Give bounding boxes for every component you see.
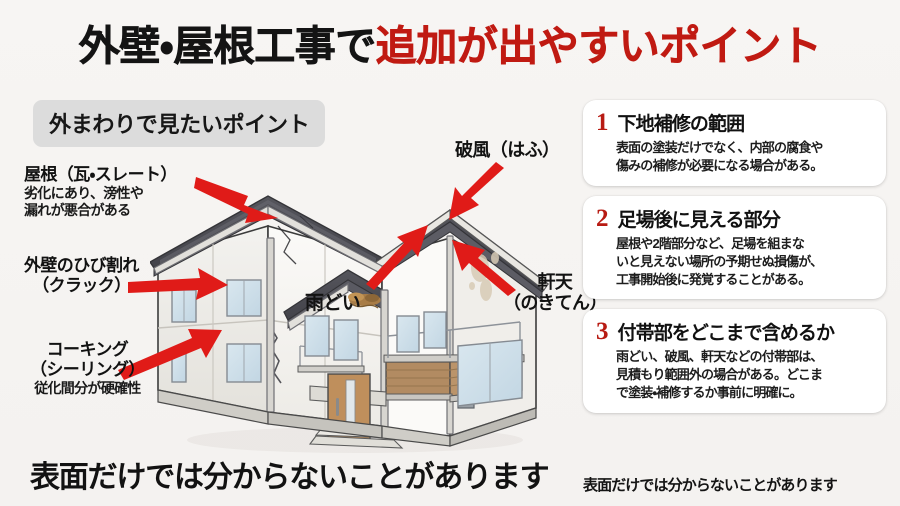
callout-roof-sub-2: 漏れが悪合がある bbox=[24, 202, 177, 219]
callout-crack: 外壁のひび割れ （クラック） bbox=[24, 256, 139, 296]
callout-hafu-head: 破風（はふ） bbox=[455, 140, 559, 161]
point-card-2-title: 足場後に見える部分 bbox=[618, 211, 780, 232]
point-card-1-header: 1 下地補修の範囲 bbox=[596, 110, 873, 136]
callout-gutter-head: 雨どい bbox=[305, 293, 360, 315]
point-card-3-body-line-2: 見積もり範囲外の場合がある。どこま bbox=[616, 366, 873, 384]
callout-caulking-sub-1: 従化間分が硬確性 bbox=[30, 380, 145, 397]
point-card-3: 3 付帯部をどこまで含めるか 雨どい、破風、軒天などの付帯部は、 見積もり範囲外… bbox=[583, 309, 886, 413]
footer-side-text: 表面だけでは分からないことがあります bbox=[583, 474, 837, 495]
callout-roof: 屋根（瓦・スレート） 劣化にあり、滂性や 漏れが悪合がある bbox=[24, 165, 177, 219]
point-card-2-header: 2 足場後に見える部分 bbox=[596, 206, 873, 232]
title-red-segment: 追加が出やすいポイント bbox=[376, 23, 822, 69]
title-black-segment: 外壁・屋根工事で bbox=[79, 23, 376, 69]
callout-gutter: 雨どい bbox=[305, 293, 360, 315]
infographic-root: 外壁・屋根工事で追加が出やすいポイント 外まわりで見たいポイント bbox=[0, 0, 900, 506]
page-title: 外壁・屋根工事で追加が出やすいポイント bbox=[0, 26, 900, 67]
points-card-list: 1 下地補修の範囲 表面の塗装だけでなく、内部の腐食や 傷みの補修が必要になる場… bbox=[583, 100, 886, 423]
callout-caulking-head-2: （シーリング） bbox=[30, 360, 145, 380]
callout-hafu: 破風（はふ） bbox=[455, 140, 559, 161]
point-card-3-body: 雨どい、破風、軒天などの付帯部は、 見積もり範囲外の場合がある。どこま で塗装・… bbox=[596, 348, 873, 402]
point-card-1-number: 1 bbox=[596, 110, 609, 135]
callout-caulking: コーキング （シーリング） 従化間分が硬確性 bbox=[30, 340, 145, 397]
point-card-1: 1 下地補修の範囲 表面の塗装だけでなく、内部の腐食や 傷みの補修が必要になる場… bbox=[583, 100, 886, 186]
point-card-3-body-line-1: 雨どい、破風、軒天などの付帯部は、 bbox=[616, 348, 873, 366]
point-card-1-title: 下地補修の範囲 bbox=[618, 115, 745, 136]
point-card-2: 2 足場後に見える部分 屋根や2階部分など、足場を組まな いと見えない場所の予期… bbox=[583, 196, 886, 300]
point-card-2-number: 2 bbox=[596, 206, 609, 231]
callout-caulking-head-1: コーキング bbox=[30, 340, 145, 360]
point-card-2-body-line-1: 屋根や2階部分など、足場を組まな bbox=[616, 235, 873, 253]
point-card-2-body-line-2: いと見えない場所の予期せぬ損傷が、 bbox=[616, 253, 873, 271]
callout-crack-head-2: （クラック） bbox=[24, 276, 139, 296]
callout-roof-sub-1: 劣化にあり、滂性や bbox=[24, 185, 177, 202]
point-card-3-number: 3 bbox=[596, 319, 609, 344]
point-card-1-body-line-2: 傷みの補修が必要になる場合がある。 bbox=[616, 157, 873, 175]
callout-roof-head: 屋根（瓦・スレート） bbox=[24, 165, 177, 185]
footer-main-text: 表面だけでは分からないことがあります bbox=[30, 452, 548, 496]
point-card-1-body: 表面の塗装だけでなく、内部の腐食や 傷みの補修が必要になる場合がある。 bbox=[596, 139, 873, 175]
point-card-2-body-line-3: 工事開始後に発覚することがある。 bbox=[616, 271, 873, 289]
point-card-2-body: 屋根や2階部分など、足場を組まな いと見えない場所の予期せぬ損傷が、 工事開始後… bbox=[596, 235, 873, 289]
section-badge-label: 外まわりで見たいポイント bbox=[49, 112, 309, 137]
point-card-3-body-line-3: で塗装・補修するか事前に明確に。 bbox=[616, 384, 873, 402]
point-card-1-body-line-1: 表面の塗装だけでなく、内部の腐食や bbox=[616, 139, 873, 157]
callout-crack-head-1: 外壁のひび割れ bbox=[24, 256, 139, 276]
point-card-3-header: 3 付帯部をどこまで含めるか bbox=[596, 319, 873, 345]
point-card-3-title: 付帯部をどこまで含めるか bbox=[618, 324, 835, 345]
